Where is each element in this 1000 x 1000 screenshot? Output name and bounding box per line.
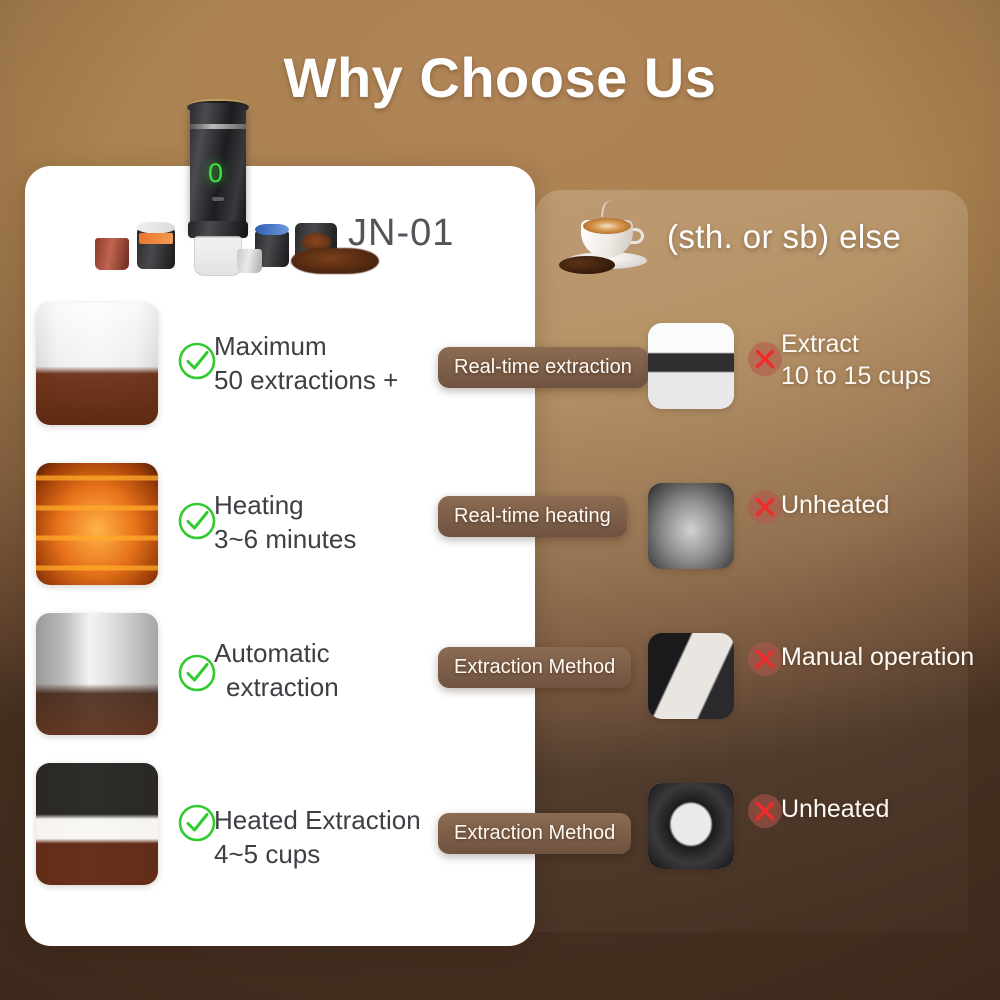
comparison-row: Heated Extraction 4~5 cups Extraction Me… xyxy=(0,763,1000,913)
con-thumbnail xyxy=(648,633,734,719)
comparison-row: Heating 3~6 minutes Real-time heating Un… xyxy=(0,463,1000,613)
pro-text-line1: Heated Extraction xyxy=(214,803,421,837)
check-circle-icon xyxy=(177,341,217,381)
check-circle-icon xyxy=(177,653,217,693)
con-text-line2: 10 to 15 cups xyxy=(781,360,931,392)
con-thumbnail xyxy=(648,323,734,409)
coffee-cup-icon xyxy=(555,200,659,274)
pro-text-line1: Heating xyxy=(214,488,304,522)
pro-text-line2: 3~6 minutes xyxy=(214,522,356,556)
coffee-beans xyxy=(559,256,615,274)
pro-thumbnail xyxy=(36,303,158,425)
capsule-lid xyxy=(255,224,289,235)
product-hero-image: 0 xyxy=(95,103,370,278)
capsule-band xyxy=(139,233,173,244)
machine-cup xyxy=(194,236,242,276)
machine-display: 0 xyxy=(208,158,223,189)
competitor-label: (sth. or sb) else xyxy=(667,218,901,256)
con-thumbnail xyxy=(648,783,734,869)
pro-text-line1: Maximum xyxy=(214,329,327,363)
feature-badge: Extraction Method xyxy=(438,813,631,854)
pro-text-line1: Automatic xyxy=(214,636,330,670)
feature-badge: Real-time extraction xyxy=(438,347,648,388)
con-text-line1: Manual operation xyxy=(781,641,974,673)
con-thumbnail xyxy=(648,483,734,569)
page-title: Why Choose Us xyxy=(0,45,1000,110)
pro-text-line2: 50 extractions + xyxy=(214,363,398,397)
cross-circle-icon xyxy=(745,639,785,679)
pro-text-line2: extraction xyxy=(226,670,339,704)
machine-button xyxy=(212,197,224,201)
feature-badge: Real-time heating xyxy=(438,496,627,537)
cross-circle-icon xyxy=(745,339,785,379)
comparison-row: Automatic extraction Extraction Method M… xyxy=(0,613,1000,763)
comparison-row: Maximum 50 extractions + Real-time extra… xyxy=(0,303,1000,453)
product-name: JN-01 xyxy=(348,212,454,255)
capsule-silver xyxy=(237,249,262,273)
con-text-line1: Extract xyxy=(781,328,859,360)
competitor-header: (sth. or sb) else xyxy=(555,200,901,274)
pro-thumbnail xyxy=(36,763,158,885)
con-text-line1: Unheated xyxy=(781,793,889,825)
capsule-orange xyxy=(137,229,175,269)
check-circle-icon xyxy=(177,501,217,541)
capsule-lid xyxy=(137,222,175,233)
con-text-line1: Unheated xyxy=(781,489,889,521)
cross-circle-icon xyxy=(745,791,785,831)
steam-wisp xyxy=(601,199,619,219)
pro-thumbnail xyxy=(36,613,158,735)
feature-badge: Extraction Method xyxy=(438,647,631,688)
machine-ring xyxy=(190,124,246,129)
cross-circle-icon xyxy=(745,487,785,527)
latte-art xyxy=(583,218,631,234)
check-circle-icon xyxy=(177,803,217,843)
capsule-red xyxy=(95,238,129,270)
pro-thumbnail xyxy=(36,463,158,585)
pro-text-line2: 4~5 cups xyxy=(214,837,320,871)
